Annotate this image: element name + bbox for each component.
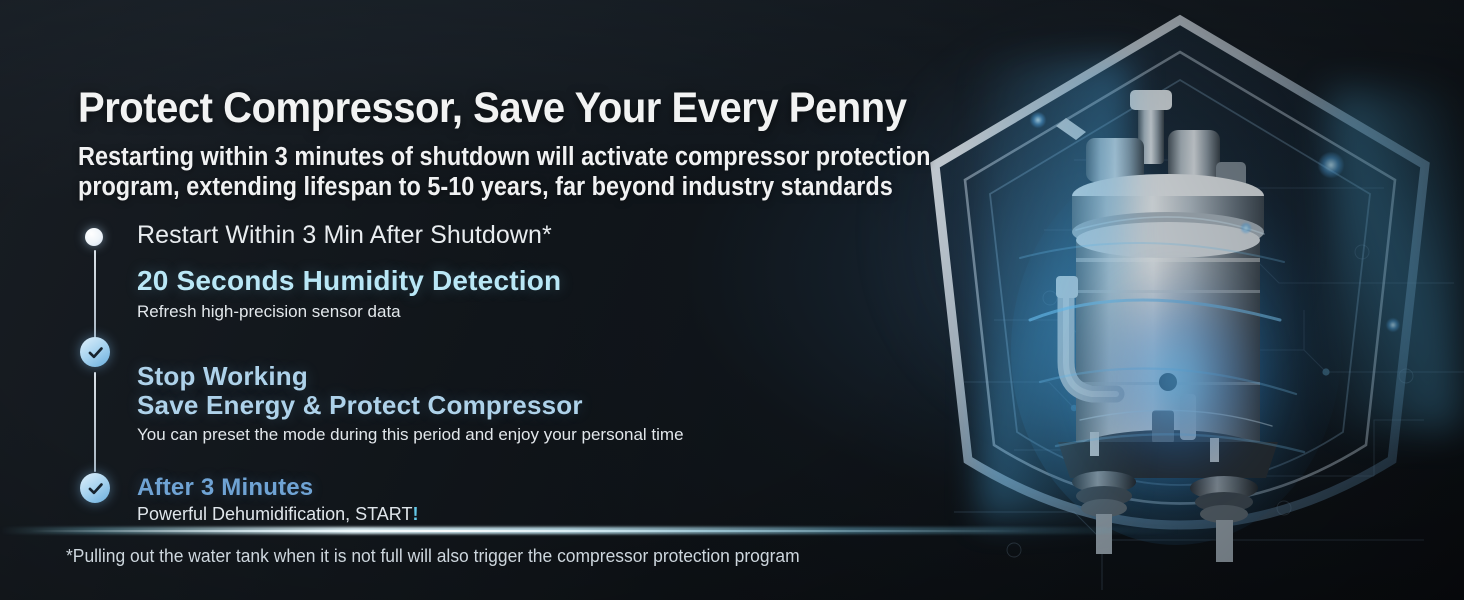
timeline: Restart Within 3 Min After Shutdown* 20 … bbox=[0, 0, 1100, 600]
timeline-item-stopworking-line1: Stop Working bbox=[137, 362, 583, 391]
timeline-item-after3min-title: After 3 Minutes bbox=[137, 474, 313, 502]
after3min-exclamation: ! bbox=[412, 504, 418, 524]
timeline-item-after3min-subtitle: Powerful Dehumidification, START! bbox=[137, 504, 418, 525]
timeline-item-humidity-title: 20 Seconds Humidity Detection bbox=[137, 265, 561, 297]
after3min-subtitle-text: Powerful Dehumidification, START bbox=[137, 504, 412, 524]
timeline-connector bbox=[94, 372, 96, 472]
timeline-item-stopworking-line2: Save Energy & Protect Compressor bbox=[137, 391, 583, 420]
content-column: Protect Compressor, Save Your Every Penn… bbox=[0, 0, 1100, 600]
timeline-item-humidity-subtitle: Refresh high-precision sensor data bbox=[137, 302, 401, 322]
glow-divider-core bbox=[30, 530, 1030, 532]
timeline-connector bbox=[94, 250, 96, 340]
timeline-dot-marker bbox=[85, 228, 103, 246]
promo-banner: Protect Compressor, Save Your Every Penn… bbox=[0, 0, 1464, 600]
check-icon bbox=[86, 343, 105, 362]
timeline-item-stopworking-title: Stop Working Save Energy & Protect Compr… bbox=[137, 362, 583, 420]
footnote-disclaimer: *Pulling out the water tank when it is n… bbox=[66, 546, 800, 567]
check-icon bbox=[86, 479, 105, 498]
timeline-check-marker bbox=[80, 473, 110, 503]
timeline-item-stopworking-subtitle: You can preset the mode during this peri… bbox=[137, 425, 684, 445]
timeline-check-marker bbox=[80, 337, 110, 367]
timeline-item-restart-title: Restart Within 3 Min After Shutdown* bbox=[137, 221, 552, 250]
